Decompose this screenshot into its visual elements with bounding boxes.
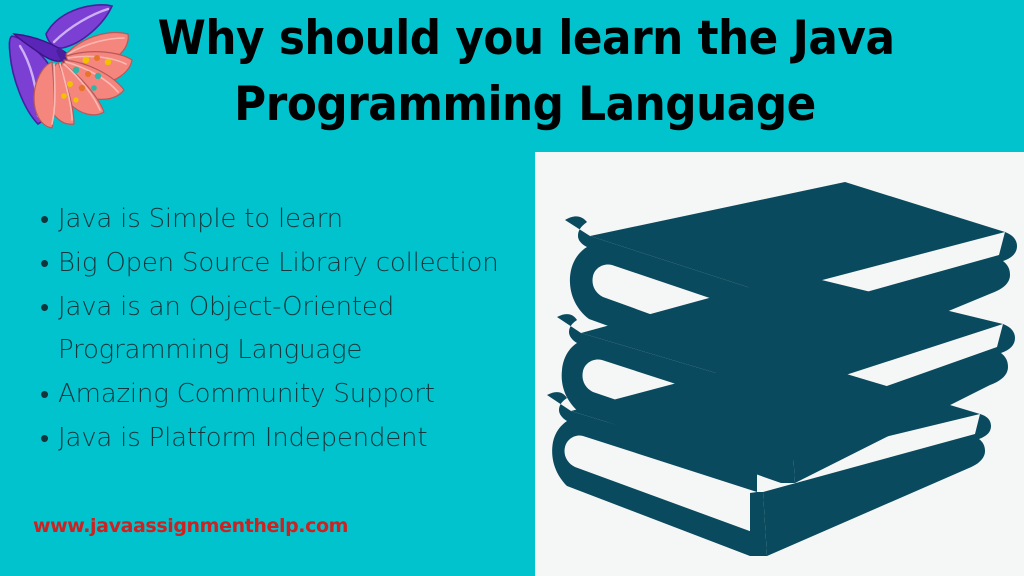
list-item: • Big Open Source Library collection: [40, 242, 510, 285]
list-item-label: Big Open Source Library collection: [58, 242, 510, 285]
list-item: • Java is an Object-Oriented Programming…: [40, 286, 510, 372]
list-item: • Java is Platform Independent: [40, 417, 510, 460]
bullet-marker-icon: •: [40, 198, 58, 241]
image-panel: [535, 152, 1024, 576]
bullet-marker-icon: •: [40, 417, 58, 460]
flower-decoration-icon: [0, 0, 150, 145]
list-item-label: Java is an Object-Oriented Programming L…: [58, 286, 510, 372]
list-item: • Amazing Community Support: [40, 373, 510, 416]
stack-of-books-icon: [535, 152, 1024, 576]
bullet-marker-icon: •: [40, 373, 58, 416]
list-item-label: Java is Simple to learn: [58, 198, 510, 241]
bullet-marker-icon: •: [40, 286, 58, 329]
benefits-list: • Java is Simple to learn • Big Open Sou…: [40, 198, 510, 461]
list-item: • Java is Simple to learn: [40, 198, 510, 241]
page-title: Why should you learn the Java Programmin…: [130, 6, 920, 138]
website-url[interactable]: www.javaassignmenthelp.com: [33, 515, 348, 537]
title-line-2: Programming Language: [158, 72, 893, 138]
bullet-marker-icon: •: [40, 242, 58, 285]
title-line-1: Why should you learn the Java: [158, 6, 893, 72]
list-item-label: Amazing Community Support: [58, 373, 510, 416]
slide-canvas: Why should you learn the Java Programmin…: [0, 0, 1024, 576]
flower-dots-icon: [61, 55, 111, 103]
list-item-label: Java is Platform Independent: [58, 417, 510, 460]
